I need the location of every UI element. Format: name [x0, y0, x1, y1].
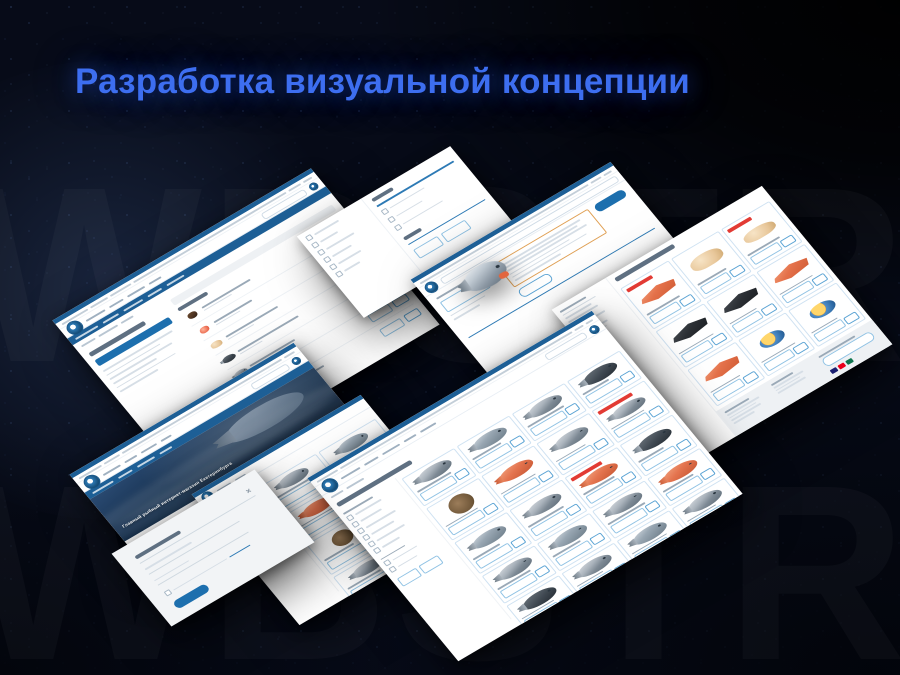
add-to-cart-button[interactable]	[669, 530, 686, 543]
checkbox[interactable]	[356, 527, 365, 534]
add-to-cart-button[interactable]	[644, 500, 661, 513]
add-to-cart-button[interactable]	[454, 468, 471, 481]
add-to-cart-button[interactable]	[678, 294, 695, 308]
name-field[interactable]	[148, 521, 239, 575]
checkbox[interactable]	[387, 215, 396, 222]
add-to-cart-button[interactable]	[614, 562, 631, 575]
add-to-cart-button[interactable]	[760, 302, 777, 316]
roe-icon	[210, 339, 224, 350]
price-min-input[interactable]	[397, 568, 423, 587]
mastercard-icon	[837, 363, 846, 370]
checkbox[interactable]	[383, 559, 392, 566]
add-to-cart-button[interactable]	[742, 371, 759, 385]
mir-icon	[845, 358, 854, 365]
checkbox[interactable]	[311, 241, 320, 248]
add-to-cart-button[interactable]	[843, 311, 860, 325]
filter-group-heading	[371, 187, 394, 202]
page-title: Разработка визуальной концепции	[75, 62, 690, 102]
add-to-cart-button[interactable]	[538, 470, 555, 483]
add-to-cart-button[interactable]	[675, 438, 692, 451]
checkbox[interactable]	[317, 249, 326, 256]
checkbox[interactable]	[373, 546, 382, 553]
add-to-cart-button[interactable]	[620, 470, 637, 483]
add-to-cart-button[interactable]	[724, 497, 741, 510]
add-to-cart-button[interactable]	[811, 273, 828, 287]
add-to-cart-button[interactable]	[729, 264, 746, 278]
checkbox[interactable]	[351, 520, 360, 527]
add-to-cart-button[interactable]	[482, 502, 499, 515]
checkbox[interactable]	[380, 207, 389, 214]
add-to-cart-button[interactable]	[700, 468, 717, 481]
checkbox[interactable]	[367, 540, 376, 547]
crab-icon	[186, 310, 199, 320]
add-to-cart-button[interactable]	[509, 435, 526, 448]
add-to-cart-button[interactable]	[564, 403, 581, 416]
dark-fish-icon	[220, 352, 237, 365]
slide-stage: WBSTR WBSTR Разработка визуальной концеп…	[0, 0, 900, 675]
shrimp-icon	[198, 325, 211, 335]
consent-checkbox[interactable]	[164, 589, 173, 596]
close-icon[interactable]	[245, 488, 252, 494]
add-to-cart-button[interactable]	[619, 370, 636, 383]
add-to-cart-button[interactable]	[589, 532, 606, 545]
add-to-cart-button[interactable]	[779, 234, 796, 248]
visa-icon	[829, 367, 838, 374]
checkbox[interactable]	[389, 566, 398, 573]
add-to-cart-button[interactable]	[534, 565, 551, 578]
price-max-input[interactable]	[418, 555, 444, 574]
checkbox[interactable]	[329, 263, 338, 270]
checkbox[interactable]	[393, 223, 402, 230]
add-to-cart-button[interactable]	[593, 437, 610, 450]
checkbox[interactable]	[323, 256, 332, 263]
checkbox[interactable]	[346, 514, 355, 521]
remove-item-button[interactable]	[403, 308, 422, 323]
checkbox[interactable]	[362, 533, 371, 540]
checkbox[interactable]	[305, 234, 314, 241]
add-to-cart-button[interactable]	[558, 595, 575, 608]
add-to-cart-button[interactable]	[565, 503, 582, 516]
add-to-cart-button[interactable]	[510, 535, 527, 548]
add-to-cart-button[interactable]	[648, 405, 665, 418]
checkbox[interactable]	[335, 270, 344, 277]
